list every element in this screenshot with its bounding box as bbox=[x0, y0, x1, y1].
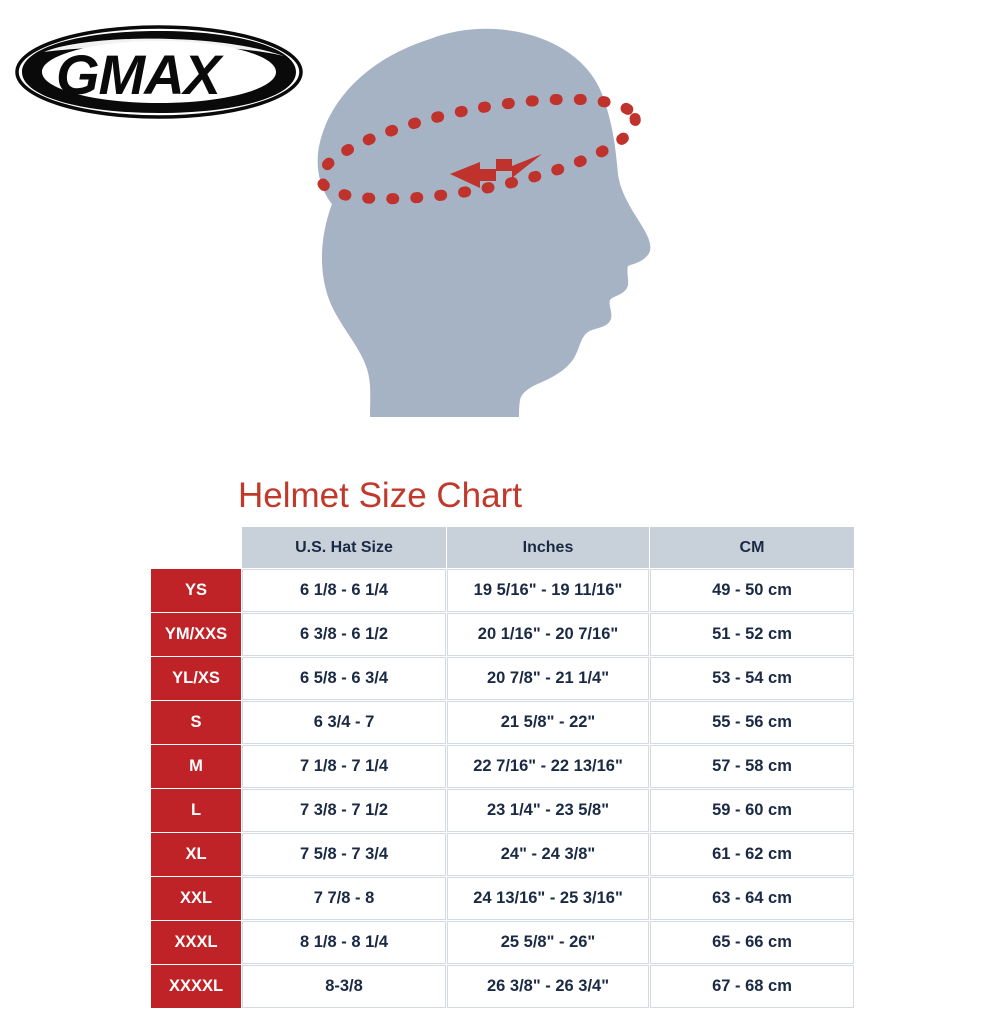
cm-value: 55 - 56 cm bbox=[650, 701, 854, 744]
column-header-us-hat-size: U.S. Hat Size bbox=[242, 527, 446, 568]
table-row: L 7 3/8 - 7 1/2 23 1/4" - 23 5/8" 59 - 6… bbox=[151, 789, 854, 832]
inches-value: 24" - 24 3/8" bbox=[447, 833, 649, 876]
hat-size-value: 6 1/8 - 6 1/4 bbox=[242, 569, 446, 612]
hat-size-value: 7 5/8 - 7 3/4 bbox=[242, 833, 446, 876]
size-label: S bbox=[151, 701, 241, 744]
gmax-logo-icon: GMAX bbox=[14, 22, 304, 122]
head-measurement-diagram bbox=[280, 14, 710, 444]
helmet-size-table: U.S. Hat Size Inches CM YS 6 1/8 - 6 1/4… bbox=[150, 526, 855, 1009]
chart-title: Helmet Size Chart bbox=[238, 478, 522, 513]
inches-value: 22 7/16" - 22 13/16" bbox=[447, 745, 649, 788]
inches-value: 19 5/16" - 19 11/16" bbox=[447, 569, 649, 612]
svg-text:GMAX: GMAX bbox=[56, 43, 225, 106]
column-header-cm: CM bbox=[650, 527, 854, 568]
hat-size-value: 6 5/8 - 6 3/4 bbox=[242, 657, 446, 700]
column-header-inches: Inches bbox=[447, 527, 649, 568]
cm-value: 53 - 54 cm bbox=[650, 657, 854, 700]
table-header: U.S. Hat Size Inches CM bbox=[151, 527, 854, 568]
size-label: XXXL bbox=[151, 921, 241, 964]
hat-size-value: 7 1/8 - 7 1/4 bbox=[242, 745, 446, 788]
gmax-logo: GMAX bbox=[14, 22, 304, 122]
hat-size-value: 6 3/8 - 6 1/2 bbox=[242, 613, 446, 656]
table-row: XXXXL 8-3/8 26 3/8" - 26 3/4" 67 - 68 cm bbox=[151, 965, 854, 1008]
cm-value: 65 - 66 cm bbox=[650, 921, 854, 964]
inches-value: 25 5/8" - 26" bbox=[447, 921, 649, 964]
hat-size-value: 8 1/8 - 8 1/4 bbox=[242, 921, 446, 964]
cm-value: 59 - 60 cm bbox=[650, 789, 854, 832]
table-body: YS 6 1/8 - 6 1/4 19 5/16" - 19 11/16" 49… bbox=[151, 569, 854, 1008]
size-label: XL bbox=[151, 833, 241, 876]
cm-value: 49 - 50 cm bbox=[650, 569, 854, 612]
hat-size-value: 6 3/4 - 7 bbox=[242, 701, 446, 744]
table-corner-cell bbox=[151, 527, 241, 568]
inches-value: 21 5/8" - 22" bbox=[447, 701, 649, 744]
hat-size-value: 7 7/8 - 8 bbox=[242, 877, 446, 920]
table-row: M 7 1/8 - 7 1/4 22 7/16" - 22 13/16" 57 … bbox=[151, 745, 854, 788]
table-header-row: U.S. Hat Size Inches CM bbox=[151, 527, 854, 568]
cm-value: 57 - 58 cm bbox=[650, 745, 854, 788]
size-label: YL/XS bbox=[151, 657, 241, 700]
size-label: XXXXL bbox=[151, 965, 241, 1008]
inches-value: 23 1/4" - 23 5/8" bbox=[447, 789, 649, 832]
table-row: XXXL 8 1/8 - 8 1/4 25 5/8" - 26" 65 - 66… bbox=[151, 921, 854, 964]
cm-value: 63 - 64 cm bbox=[650, 877, 854, 920]
table-row: YL/XS 6 5/8 - 6 3/4 20 7/8" - 21 1/4" 53… bbox=[151, 657, 854, 700]
size-label: YM/XXS bbox=[151, 613, 241, 656]
table-row: XL 7 5/8 - 7 3/4 24" - 24 3/8" 61 - 62 c… bbox=[151, 833, 854, 876]
cm-value: 67 - 68 cm bbox=[650, 965, 854, 1008]
size-label: M bbox=[151, 745, 241, 788]
inches-value: 20 7/8" - 21 1/4" bbox=[447, 657, 649, 700]
table-row: S 6 3/4 - 7 21 5/8" - 22" 55 - 56 cm bbox=[151, 701, 854, 744]
cm-value: 61 - 62 cm bbox=[650, 833, 854, 876]
size-label: YS bbox=[151, 569, 241, 612]
table-row: YS 6 1/8 - 6 1/4 19 5/16" - 19 11/16" 49… bbox=[151, 569, 854, 612]
table-row: XXL 7 7/8 - 8 24 13/16" - 25 3/16" 63 - … bbox=[151, 877, 854, 920]
hat-size-value: 8-3/8 bbox=[242, 965, 446, 1008]
table-row: YM/XXS 6 3/8 - 6 1/2 20 1/16" - 20 7/16"… bbox=[151, 613, 854, 656]
head-silhouette-icon bbox=[280, 14, 710, 444]
size-label: L bbox=[151, 789, 241, 832]
cm-value: 51 - 52 cm bbox=[650, 613, 854, 656]
head-silhouette-shape bbox=[318, 29, 651, 417]
hat-size-value: 7 3/8 - 7 1/2 bbox=[242, 789, 446, 832]
inches-value: 26 3/8" - 26 3/4" bbox=[447, 965, 649, 1008]
inches-value: 24 13/16" - 25 3/16" bbox=[447, 877, 649, 920]
size-label: XXL bbox=[151, 877, 241, 920]
inches-value: 20 1/16" - 20 7/16" bbox=[447, 613, 649, 656]
